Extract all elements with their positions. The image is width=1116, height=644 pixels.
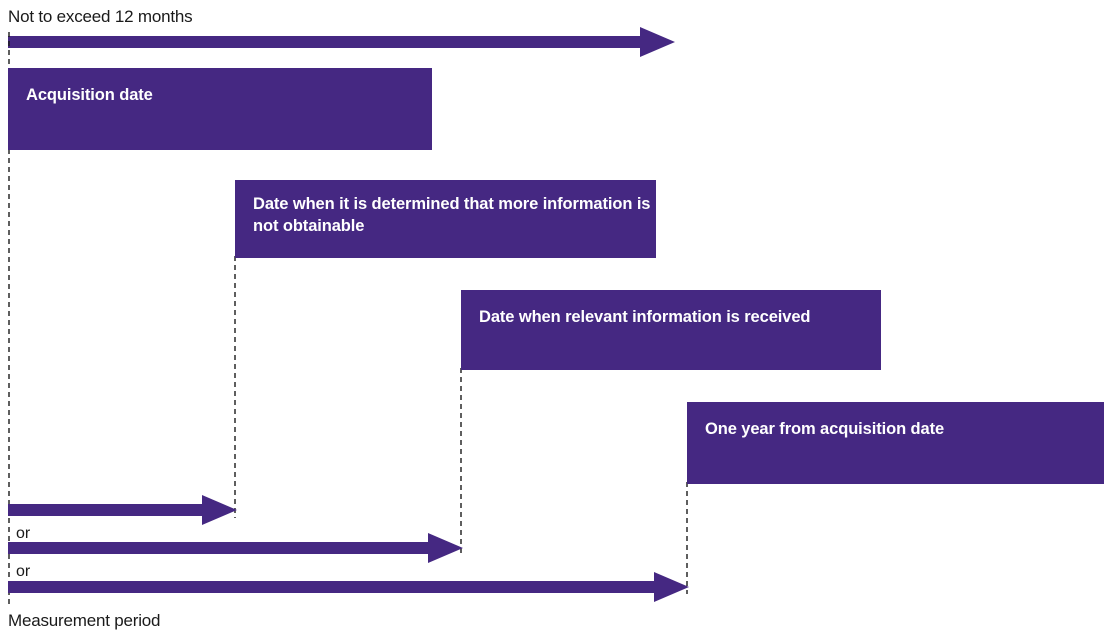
measurement-period-option-3-arrow: [8, 571, 690, 603]
guide-relevant-information-dashed-line: [458, 368, 464, 556]
bottom-caption: Measurement period: [8, 612, 160, 629]
top-caption: Not to exceed 12 months: [8, 8, 192, 25]
top-timeline-arrow: [8, 26, 676, 58]
guide-more-information-dashed-line: [232, 256, 238, 518]
measurement-period-option-2-arrow: [8, 532, 464, 564]
box-more-information-not-obtainable[interactable]: Date when it is determined that more inf…: [235, 180, 656, 258]
box-acquisition-date[interactable]: Acquisition date: [8, 68, 432, 150]
box-relevant-information-received[interactable]: Date when relevant information is receiv…: [461, 290, 881, 370]
box-one-year-from-acquisition-date[interactable]: One year from acquisition date: [687, 402, 1104, 484]
measurement-period-option-1-arrow: [8, 494, 238, 526]
measurement-period-diagram: Not to exceed 12 months Acquisition date…: [0, 0, 1116, 644]
